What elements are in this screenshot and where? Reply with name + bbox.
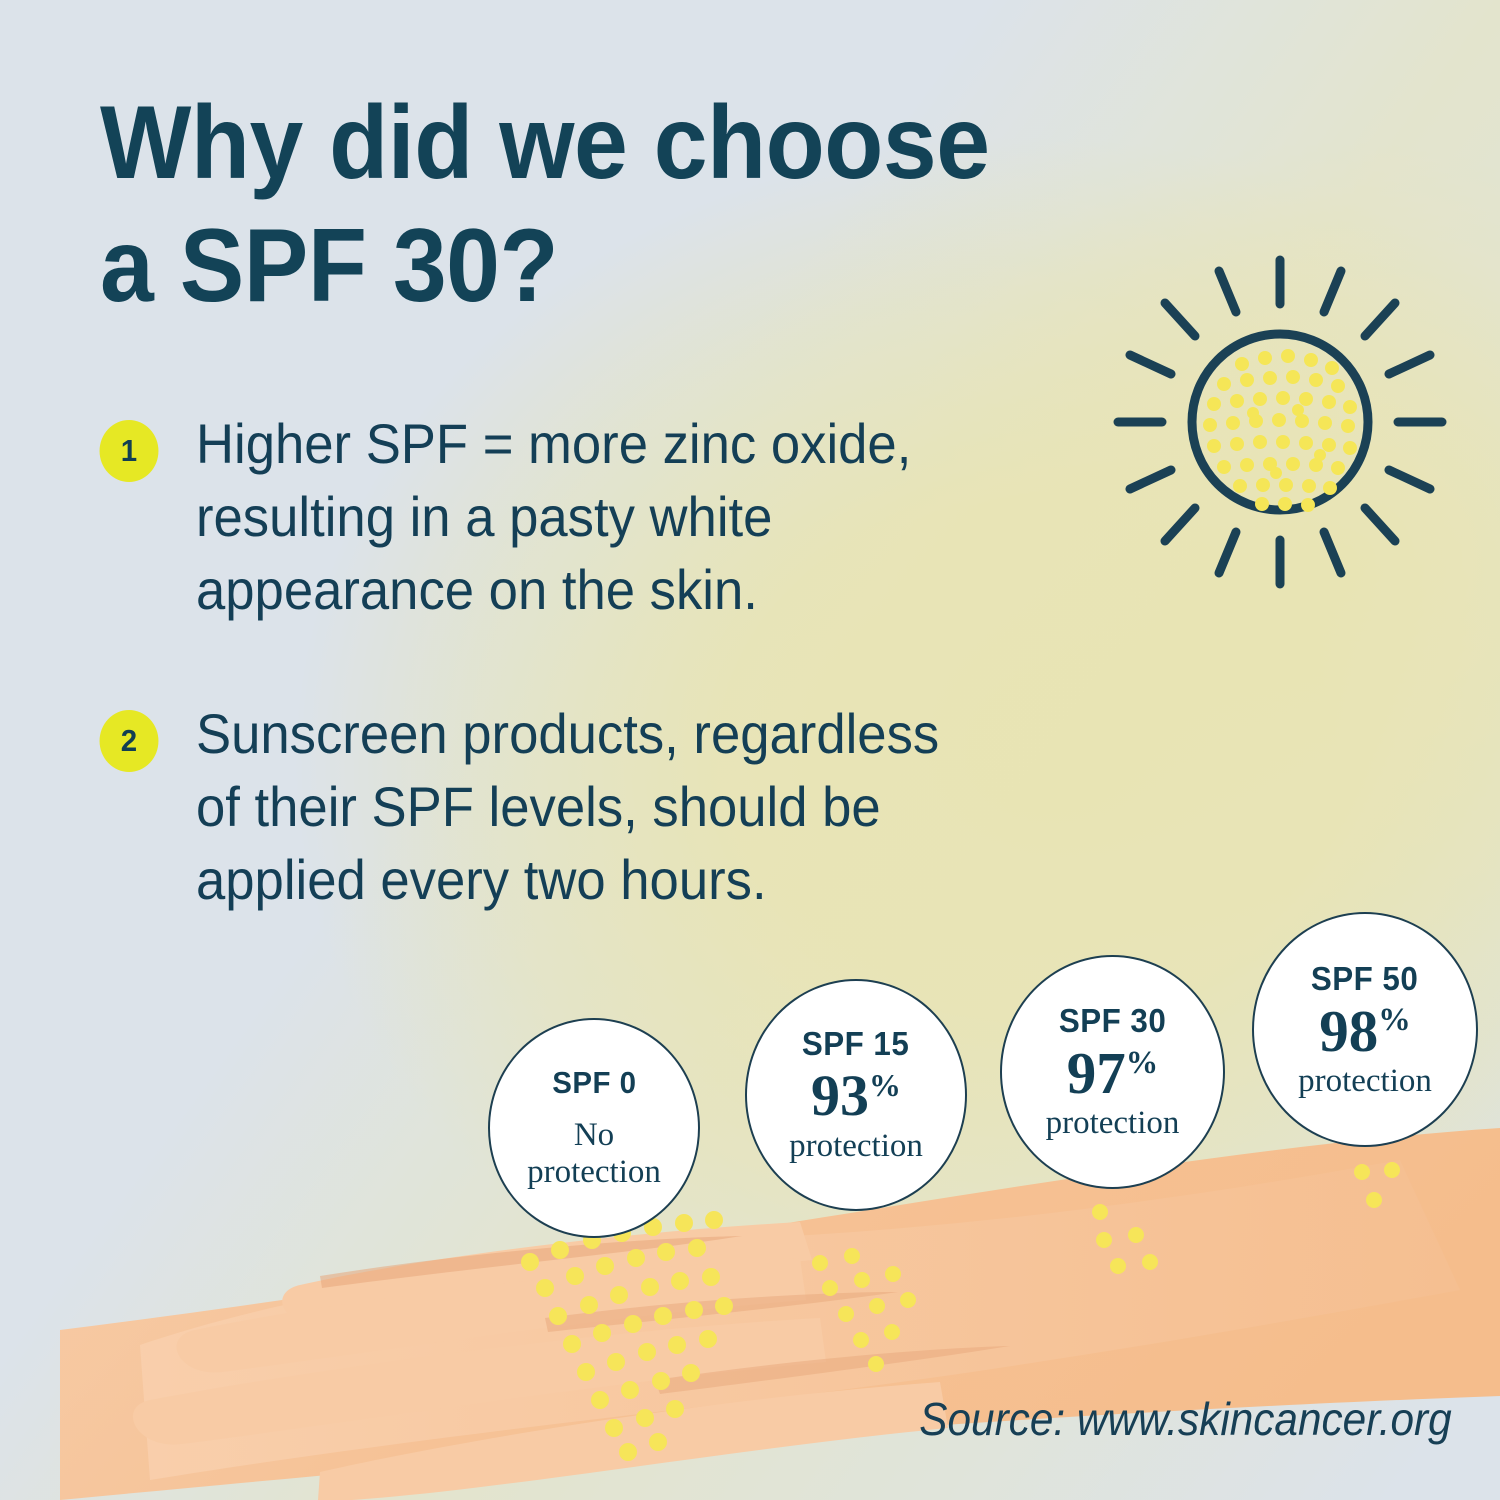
spf-circle-30: SPF 30 97 % protection (1000, 955, 1225, 1189)
list-item: 2 Sunscreen products, regardless of thei… (98, 698, 1208, 916)
spf-percent-value: 98 % (1319, 1003, 1410, 1059)
spf-level-label: SPF 30 (1059, 1002, 1166, 1040)
percent-sign-icon: % (1378, 1004, 1410, 1036)
spf-protection-label: No protection (527, 1117, 661, 1191)
spf-circle-0: SPF 0 No protection (488, 1018, 700, 1238)
list-item-text: Sunscreen products, regardless of their … (196, 698, 939, 916)
list-item: 1 Higher SPF = more zinc oxide, resultin… (98, 408, 1108, 626)
source-credit: Source: www.skincancer.org (920, 1392, 1452, 1446)
infographic-canvas: Why did we choose a SPF 30? (0, 0, 1500, 1500)
spf-protection-label: protection (1046, 1105, 1180, 1142)
spf-percent-value: 97 % (1067, 1045, 1158, 1101)
spf-level-label: SPF 50 (1311, 960, 1418, 998)
list-number-badge: 2 (100, 710, 159, 772)
page-title: Why did we choose a SPF 30? (100, 82, 1197, 327)
percent-sign-icon: % (869, 1070, 901, 1102)
spf-level-label: SPF 15 (802, 1025, 909, 1063)
spf-protection-label: protection (1298, 1063, 1432, 1100)
spf-percent-number: 97 (1067, 1045, 1126, 1101)
list-item-text: Higher SPF = more zinc oxide, resulting … (196, 408, 911, 626)
spf-percent-number: 93 (811, 1068, 869, 1123)
spf-circle-50: SPF 50 98 % protection (1252, 912, 1478, 1147)
spf-circle-15: SPF 15 93 % protection (745, 979, 967, 1211)
spf-level-label: SPF 0 (552, 1065, 636, 1101)
spf-protection-label: protection (789, 1128, 923, 1165)
list-number-badge: 1 (100, 420, 159, 482)
percent-sign-icon: % (1126, 1047, 1158, 1079)
sun-icon (1110, 252, 1450, 592)
spf-percent-value: 93 % (811, 1068, 901, 1123)
spf-percent-number: 98 (1319, 1003, 1378, 1059)
